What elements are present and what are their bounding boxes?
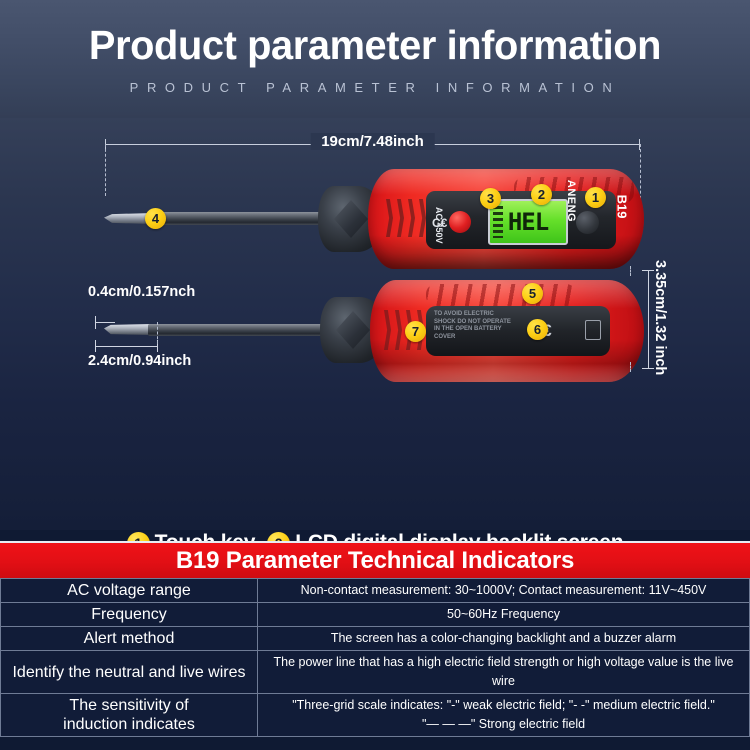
- callout-badge-4: 4: [145, 208, 166, 229]
- overall-length-dimension: 19cm/7.48inch: [105, 144, 640, 145]
- product-illustration-stage: 19cm/7.48inch AC 450V C€ HEL: [0, 118, 750, 530]
- tip-length-line: [95, 346, 157, 347]
- product-view-front: AC 450V C€ HEL ANENG B19 4 3 2 1: [104, 166, 644, 271]
- spec-value-sensitivity-line2: "— — —" Strong electric field: [262, 715, 745, 734]
- callout-badge-5: 5: [522, 283, 543, 304]
- callout-badge-3: 3: [480, 188, 501, 209]
- battery-warning-text: TO AVOID ELECTRIC SHOCK DO NOT OPERATE I…: [434, 311, 512, 341]
- lcd-reading: HEL: [508, 208, 548, 236]
- handle-height-guide-bottom: [630, 362, 631, 372]
- power-button[interactable]: [449, 211, 471, 233]
- callout-badge-2: 2: [531, 184, 552, 205]
- page-header: Product parameter information PRODUCT PA…: [0, 0, 750, 118]
- handle-height-label: 3.35cm/1.32 inch: [652, 260, 668, 375]
- table-row: Frequency 50~60Hz Frequency: [1, 603, 750, 627]
- metal-shaft-back: [148, 324, 334, 336]
- spec-key-sensitivity-line1: The sensitivity of: [5, 696, 253, 715]
- ce-mark-icon: C€: [432, 216, 447, 230]
- lcd-screen: HEL: [488, 199, 568, 245]
- anti-slip-ridges: [426, 284, 576, 306]
- spec-table: AC voltage range Non-contact measurement…: [0, 578, 750, 737]
- handle-height-line: [648, 270, 649, 368]
- table-row: Identify the neutral and live wires The …: [1, 651, 750, 694]
- lcd-bargraph-icon: [493, 206, 503, 238]
- metal-shaft: [150, 212, 330, 225]
- spec-key-ac-voltage-range: AC voltage range: [1, 579, 258, 603]
- spec-key-identify-wires: Identify the neutral and live wires: [1, 651, 258, 694]
- tip-width-line: [95, 322, 115, 323]
- overall-length-label: 19cm/7.48inch: [310, 133, 435, 150]
- spec-key-sensitivity: The sensitivity of induction indicates: [1, 694, 258, 737]
- tip-length-guide: [157, 322, 158, 344]
- spec-key-alert-method: Alert method: [1, 627, 258, 651]
- table-row: The sensitivity of induction indicates "…: [1, 694, 750, 737]
- model-label: B19: [615, 195, 630, 219]
- spec-value-ac-voltage-range: Non-contact measurement: 30~1000V; Conta…: [258, 579, 750, 603]
- spec-value-sensitivity: "Three-grid scale indicates: "-" weak el…: [258, 694, 750, 737]
- table-row: Alert method The screen has a color-chan…: [1, 627, 750, 651]
- callout-badge-1: 1: [585, 187, 606, 208]
- page-subtitle: PRODUCT PARAMETER INFORMATION: [0, 80, 750, 95]
- handle-height-guide-top: [630, 266, 631, 276]
- red-handle: AC 450V C€ HEL ANENG B19: [368, 169, 644, 269]
- battery-compartment[interactable]: TO AVOID ELECTRIC SHOCK DO NOT OPERATE I…: [426, 306, 610, 356]
- tip-length-label: 2.4cm/0.94inch: [88, 353, 191, 369]
- spec-table-title: B19 Parameter Technical Indicators: [0, 543, 750, 578]
- brush-head-tip-back: [104, 324, 152, 335]
- touch-key[interactable]: [576, 211, 599, 234]
- table-row: AC voltage range Non-contact measurement…: [1, 579, 750, 603]
- page-title: Product parameter information: [11, 22, 739, 69]
- spec-value-sensitivity-line1: "Three-grid scale indicates: "-" weak el…: [262, 696, 745, 715]
- waste-bin-icon: [585, 320, 601, 340]
- tip-width-label: 0.4cm/0.157nch: [88, 284, 195, 300]
- spec-value-frequency: 50~60Hz Frequency: [258, 603, 750, 627]
- spec-key-sensitivity-line2: induction indicates: [5, 715, 253, 734]
- product-info-page: Product parameter information PRODUCT PA…: [0, 0, 750, 750]
- spec-value-alert-method: The screen has a color-changing backligh…: [258, 627, 750, 651]
- spec-value-identify-wires: The power line that has a high electric …: [258, 651, 750, 694]
- tip-length-tick-left: [95, 340, 96, 352]
- callout-badge-6: 6: [527, 319, 548, 340]
- spec-table-title-band: B19 Parameter Technical Indicators: [0, 543, 750, 578]
- brand-label: ANENG: [565, 180, 577, 222]
- callout-badge-7: 7: [405, 321, 426, 342]
- spec-key-frequency: Frequency: [1, 603, 258, 627]
